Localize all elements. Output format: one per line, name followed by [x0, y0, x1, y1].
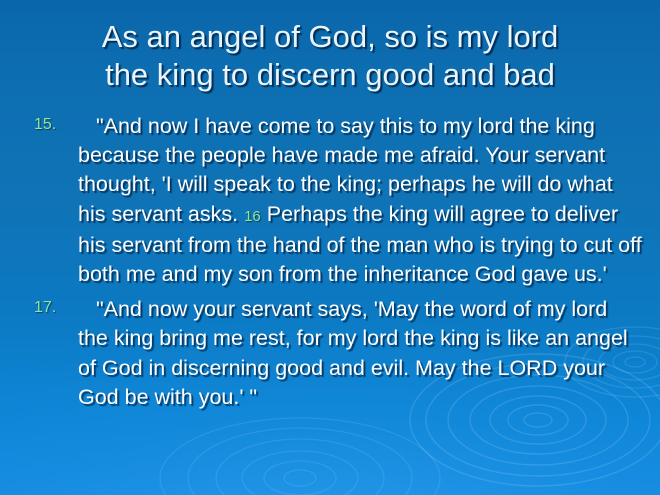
scripture-paragraph-17: 17."And now your servant says, 'May the … [0, 295, 660, 414]
scripture-text-17-part1: "And now your servant says, 'May the wor… [78, 297, 628, 409]
slide-body: 15."And now I have come to say this to m… [0, 112, 660, 420]
scripture-paragraph-15: 15."And now I have come to say this to m… [0, 112, 660, 289]
slide-title: As an angel of God, so is my lord the ki… [22, 18, 638, 94]
verse-number-16-inline: 16 [244, 208, 261, 225]
presentation-slide: As an angel of God, so is my lord the ki… [0, 0, 660, 495]
verse-number-17: 17. [34, 297, 56, 319]
verse-number-15: 15. [34, 114, 56, 136]
